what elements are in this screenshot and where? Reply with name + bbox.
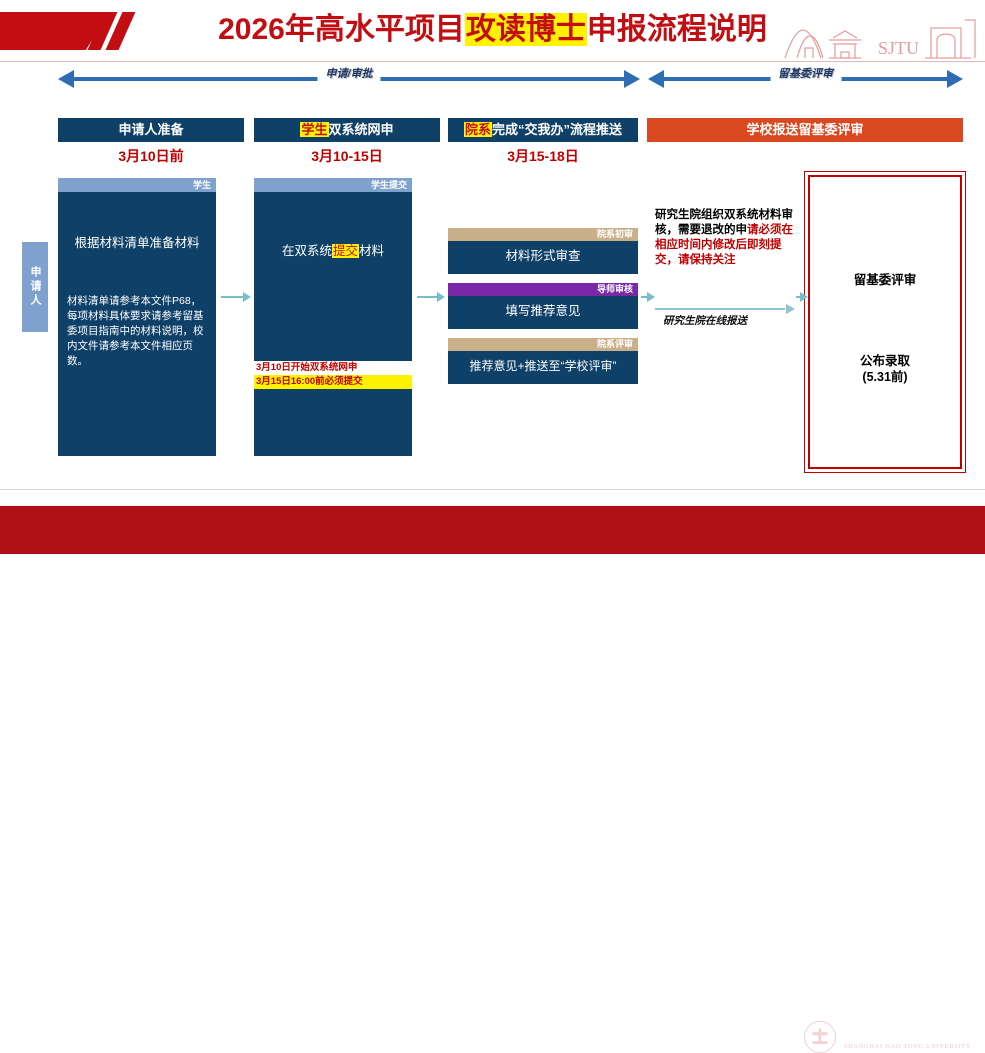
card-submit-notes: 3月10日开始双系统网申 3月15日16:00前必须提交 bbox=[254, 361, 412, 389]
column-date-dept-push: 3月15-18日 bbox=[448, 146, 638, 166]
footer-divider bbox=[0, 489, 985, 490]
submit-note-line-1: 3月10日开始双系统网申 bbox=[254, 361, 412, 375]
arrow-shaft bbox=[655, 308, 785, 310]
arrow-shaft bbox=[221, 296, 244, 298]
slide-header: 2026年高水平项目攻读博士申报流程说明 SJTU bbox=[0, 0, 985, 62]
final-box-result: 公布录取 (5.31前) bbox=[810, 353, 960, 385]
slide-footer: 上海交通大学 SHANGHAI JIAO TONG UNIVERSITY bbox=[0, 506, 985, 554]
sjtu-seal-icon bbox=[804, 1021, 836, 1053]
column-header-rest: 双系统网申 bbox=[329, 122, 394, 137]
arrow-head-icon bbox=[800, 292, 808, 302]
final-box-title: 留基委评审 bbox=[810, 269, 960, 288]
dept-block-text: 填写推荐意见 bbox=[448, 296, 638, 329]
dept-block-cap: 导师审核 bbox=[448, 283, 638, 296]
page-title-highlight: 攻读博士 bbox=[465, 13, 587, 46]
applicant-rail-label: 申请人 bbox=[22, 242, 48, 332]
card-cap-student: 学生 bbox=[58, 178, 216, 192]
final-review-box: 留基委评审 公布录取 (5.31前) bbox=[808, 175, 962, 469]
submit-note-prefix: 3月15日16:00前必须 bbox=[256, 376, 344, 387]
phase-arrow-apply: 申请/审批 bbox=[58, 62, 640, 98]
university-name-cn: 上海交通大学 bbox=[844, 1023, 971, 1040]
connector-arrow-1-icon bbox=[221, 292, 251, 302]
dept-block-text: 材料形式审查 bbox=[448, 241, 638, 274]
dept-block-cap: 院系评审 bbox=[448, 338, 638, 351]
card-prepare-title: 根据材料清单准备材料 bbox=[58, 234, 216, 252]
university-logo: 上海交通大学 SHANGHAI JIAO TONG UNIVERSITY bbox=[804, 1021, 971, 1053]
sjtu-wordmark: SJTU bbox=[878, 38, 919, 58]
column-header-applicant-prep: 申请人准备 bbox=[58, 118, 244, 142]
grad-online-report-label: 研究生院在线报送 bbox=[663, 313, 803, 328]
card-submit-title-highlight: 提交 bbox=[332, 244, 359, 258]
university-name-en: SHANGHAI JIAO TONG UNIVERSITY bbox=[844, 1042, 971, 1051]
page-title-part2: 申报流程说明 bbox=[587, 13, 767, 46]
column-header-school-report: 学校报送留基委评审 bbox=[647, 118, 963, 142]
final-box-result-line2: (5.31前) bbox=[810, 369, 960, 385]
arrow-shaft bbox=[417, 296, 438, 298]
dept-block-advisor-review: 导师审核 填写推荐意见 bbox=[448, 283, 638, 329]
dept-block-cap: 院系初审 bbox=[448, 228, 638, 241]
page-title-part1: 2026年高水平项目 bbox=[218, 13, 465, 46]
arrow-head-icon bbox=[243, 292, 251, 302]
dept-block-preliminary-review: 院系初审 材料形式审查 bbox=[448, 228, 638, 274]
column-date-applicant-prep: 3月10日前 bbox=[58, 146, 244, 166]
arrow-right-head-icon bbox=[947, 70, 963, 88]
card-submit-materials: 学生提交 在双系统提交材料 3月10日开始双系统网申 3月15日16:00前必须… bbox=[254, 178, 412, 456]
dept-block-text: 推荐意见+推送至“学校评审” bbox=[448, 351, 638, 384]
arrow-head-icon bbox=[437, 292, 445, 302]
connector-arrow-2-icon bbox=[417, 292, 445, 302]
column-header-rest: 完成“交我办”流程推送 bbox=[492, 122, 622, 137]
card-submit-title: 在双系统提交材料 bbox=[254, 242, 412, 260]
card-submit-title-suffix: 材料 bbox=[359, 244, 384, 258]
grad-school-note: 研究生院组织双系统材料审核，需要退改的申请必须在相应时间内修改后即刻提交，请保持… bbox=[655, 208, 797, 268]
card-prepare-body: 材料清单请参考本文件P68，每项材料具体要求请参考留基委项目指南中的材料说明，校… bbox=[67, 294, 207, 369]
slide-root: 2026年高水平项目攻读博士申报流程说明 SJTU bbox=[0, 0, 985, 554]
campus-skyline-icon: SJTU bbox=[783, 14, 979, 60]
arrow-right-head-icon bbox=[624, 70, 640, 88]
phase-label-apply: 申请/审批 bbox=[317, 65, 380, 81]
connector-arrow-3-icon bbox=[641, 292, 655, 302]
column-header-dept-push: 院系完成“交我办”流程推送 bbox=[448, 118, 638, 142]
card-cap-student-submit: 学生提交 bbox=[254, 178, 412, 192]
phase-arrow-review: 留基委评审 bbox=[648, 62, 963, 98]
connector-arrow-4-icon bbox=[796, 292, 808, 302]
card-submit-title-prefix: 在双系统 bbox=[282, 244, 332, 258]
university-name-block: 上海交通大学 SHANGHAI JIAO TONG UNIVERSITY bbox=[844, 1023, 971, 1051]
column-header-highlight: 院系 bbox=[464, 122, 492, 137]
submit-note-bold: 提交 bbox=[344, 376, 363, 387]
column-date-student-online: 3月10-15日 bbox=[254, 146, 440, 166]
column-header-student-online: 学生双系统网申 bbox=[254, 118, 440, 142]
final-box-result-line1: 公布录取 bbox=[810, 353, 960, 369]
arrow-head-icon bbox=[647, 292, 655, 302]
phase-arrow-row: 申请/审批 留基委评审 bbox=[0, 62, 985, 98]
card-prepare-materials: 学生 根据材料清单准备材料 材料清单请参考本文件P68，每项材料具体要求请参考留… bbox=[58, 178, 216, 456]
dept-block-department-evaluation: 院系评审 推荐意见+推送至“学校评审” bbox=[448, 338, 638, 384]
submit-note-line-2: 3月15日16:00前必须提交 bbox=[254, 375, 412, 389]
phase-label-review: 留基委评审 bbox=[770, 65, 841, 81]
column-header-highlight: 学生 bbox=[300, 122, 328, 137]
